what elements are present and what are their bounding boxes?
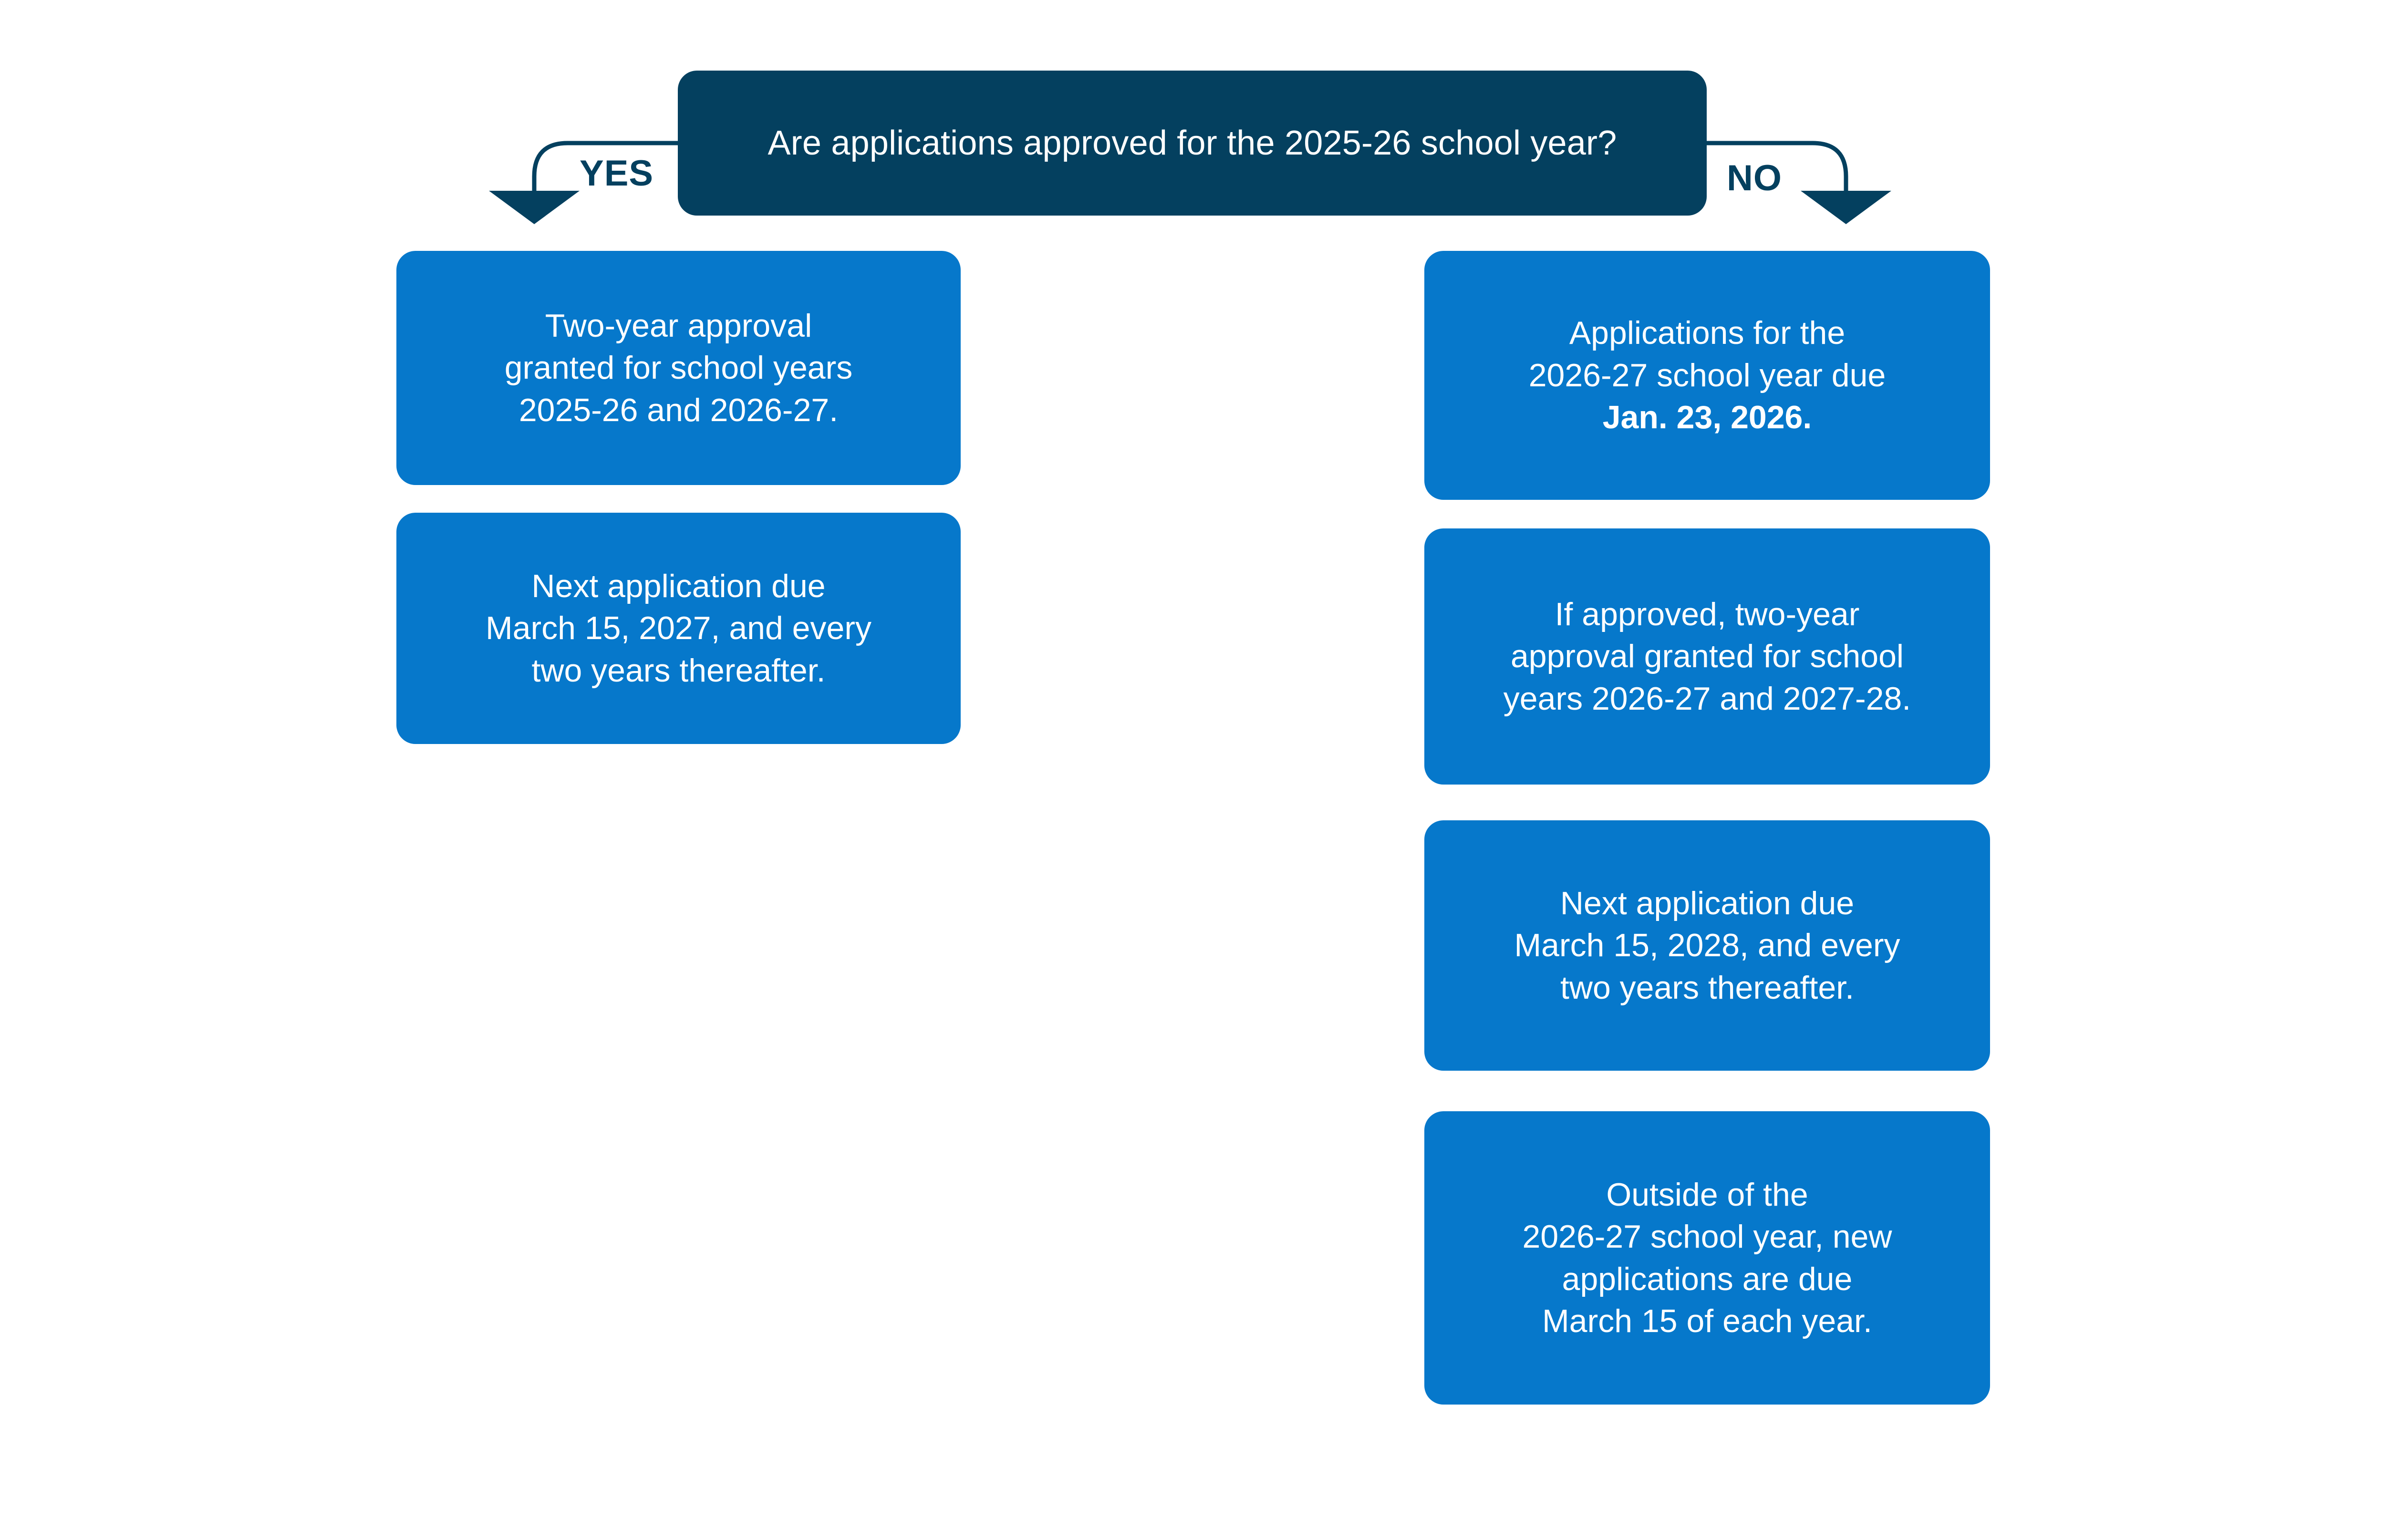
branch-label-no: NO <box>1727 157 1782 199</box>
outcome-text: Outside of the2026-27 school year, newap… <box>1523 1174 1892 1343</box>
outcome-text: Next application dueMarch 15, 2027, and … <box>486 565 871 692</box>
outcome-card-no-3: Next application dueMarch 15, 2028, and … <box>1424 820 1990 1071</box>
outcome-card-yes-1: Two-year approvalgranted for school year… <box>396 251 961 485</box>
outcome-text: If approved, two-yearapproval granted fo… <box>1504 593 1911 720</box>
flowchart-canvas: Are applications approved for the 2025-2… <box>0 0 2385 1540</box>
decision-question: Are applications approved for the 2025-2… <box>768 122 1617 165</box>
no-arrowhead <box>1801 191 1891 224</box>
branch-label-yes: YES <box>580 153 653 194</box>
yes-arrowhead <box>489 191 580 224</box>
outcome-card-no-1: Applications for the2026-27 school year … <box>1424 251 1990 500</box>
outcome-card-no-4: Outside of the2026-27 school year, newap… <box>1424 1111 1990 1405</box>
decision-node: Are applications approved for the 2025-2… <box>678 71 1707 216</box>
connector-layer <box>0 0 2385 1540</box>
outcome-card-yes-2: Next application dueMarch 15, 2027, and … <box>396 513 961 744</box>
outcome-text: Applications for the2026-27 school year … <box>1529 312 1886 438</box>
outcome-card-no-2: If approved, two-yearapproval granted fo… <box>1424 528 1990 785</box>
outcome-text: Next application dueMarch 15, 2028, and … <box>1514 882 1900 1009</box>
outcome-text: Two-year approvalgranted for school year… <box>505 305 853 431</box>
